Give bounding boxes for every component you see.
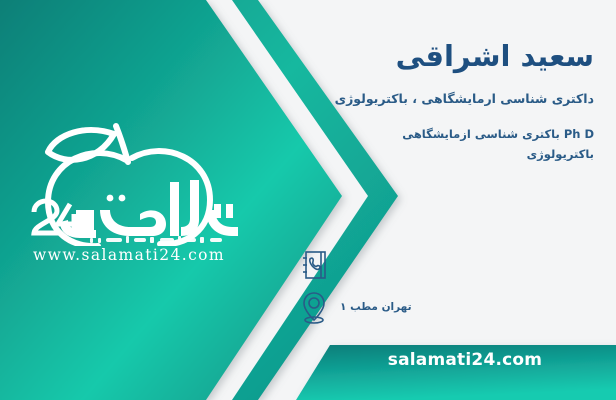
doctor-specialty: داکتری شناسی ارمایشگاهی ، باکتریولوژی — [254, 90, 594, 109]
doctor-degree-line-1: Ph D باکتری شناسی ازمایشگاهی — [254, 125, 594, 145]
doctor-degree-line-2: باکتریولوژی — [254, 145, 594, 165]
doctor-name: سعید اشراقی — [254, 38, 594, 74]
apple-outline-logo — [14, 118, 244, 246]
logo-website-url: www.salamati24.com — [14, 246, 244, 264]
phone-book-icon — [298, 248, 330, 282]
brand-logo: www.salamati24.com — [14, 118, 244, 278]
contact-row-phone[interactable] — [298, 248, 598, 282]
location-label: تهران مطب ۱ — [340, 301, 412, 313]
footer-website[interactable]: salamati24.com — [340, 350, 590, 370]
contact-row-location[interactable]: تهران مطب ۱ — [298, 290, 598, 324]
doctor-info: سعید اشراقی داکتری شناسی ارمایشگاهی ، با… — [254, 38, 594, 164]
business-card: www.salamati24.com سعید اشراقی داکتری شن… — [0, 0, 616, 400]
map-pin-icon — [298, 290, 330, 324]
contact-block: تهران مطب ۱ — [298, 248, 598, 332]
